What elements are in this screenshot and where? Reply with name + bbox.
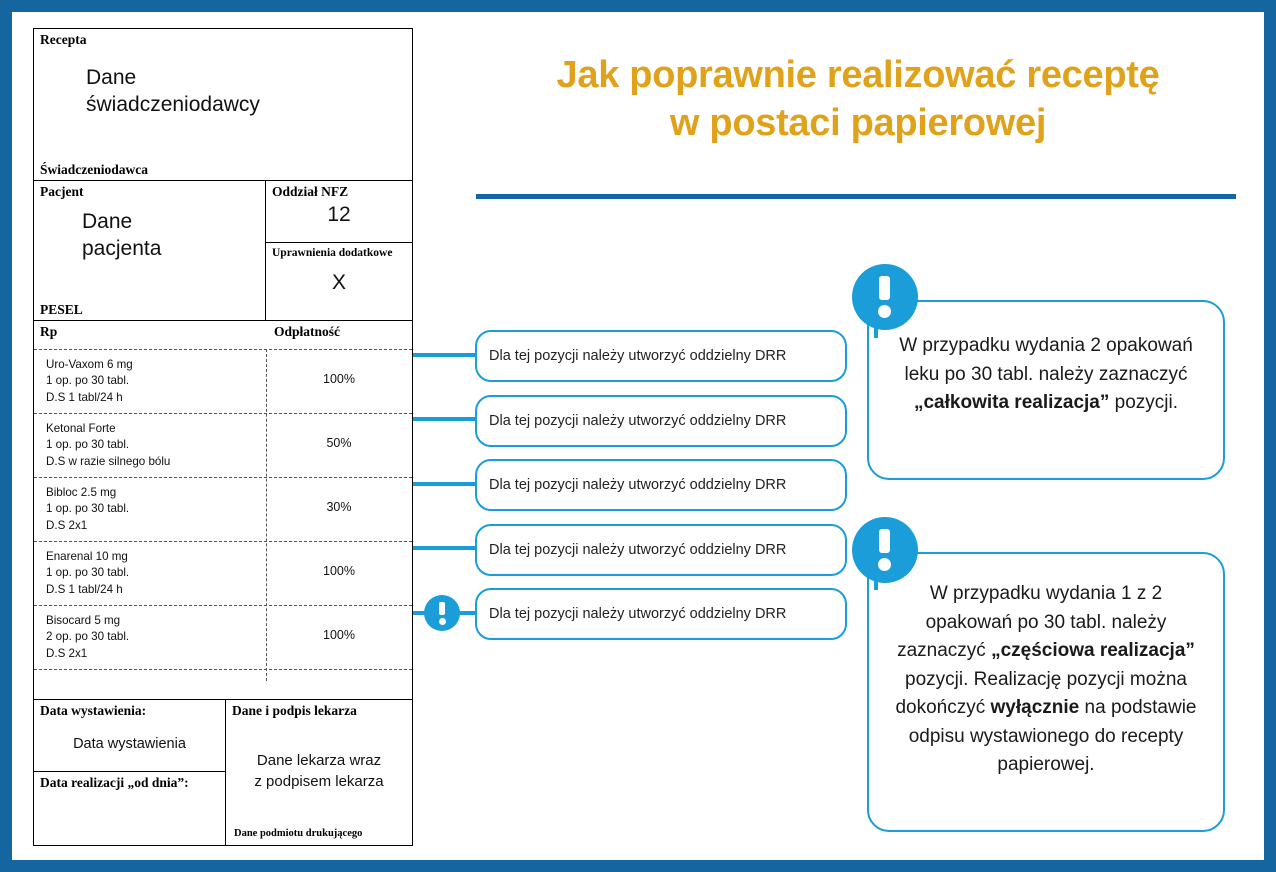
- provider-block: Recepta Dane świadczeniodawcy Świadczeni…: [34, 29, 412, 181]
- title-underline: [476, 194, 1236, 199]
- pesel-label: PESEL: [34, 299, 83, 318]
- nfz-cell: Oddział NFZ 12: [266, 181, 412, 243]
- drug-details: Ketonal Forte 1 op. po 30 tabl. D.S w ra…: [46, 421, 258, 470]
- page-title-line1: Jak poprawnie realizować receptę: [464, 52, 1252, 100]
- callout-box: Dla tej pozycji należy utworzyć oddzieln…: [475, 395, 847, 447]
- drug-payment: 100%: [266, 564, 412, 578]
- rp-header-label: Rp: [34, 321, 266, 340]
- table-row: Enarenal 10 mg 1 op. po 30 tabl. D.S 1 t…: [34, 541, 412, 605]
- exclamation-icon: [852, 517, 918, 583]
- drug-dosage: D.S 2x1: [46, 518, 258, 534]
- payment-header-label: Odpłatność: [266, 321, 412, 340]
- nfz-column: Oddział NFZ 12 Uprawnienia dodatkowe X: [266, 181, 412, 320]
- drug-dosage: D.S 1 tabl/24 h: [46, 390, 258, 406]
- drug-name: Bisocard 5 mg: [46, 613, 258, 629]
- table-row: Uro-Vaxom 6 mg 1 op. po 30 tabl. D.S 1 t…: [34, 349, 412, 413]
- form-footer: Data wystawienia: Data wystawienia Data …: [34, 699, 412, 845]
- callout-text: Dla tej pozycji należy utworzyć oddzieln…: [477, 348, 786, 364]
- callout-box: Dla tej pozycji należy utworzyć oddzieln…: [475, 459, 847, 511]
- provider-footer-label: Świadczeniodawca: [34, 159, 148, 178]
- provider-value: Dane świadczeniodawcy: [86, 65, 260, 119]
- patient-label: Pacjent: [34, 181, 265, 200]
- callout-text: Dla tej pozycji należy utworzyć oddzieln…: [477, 477, 786, 493]
- realization-date-cell: Data realizacji „od dnia”:: [34, 772, 225, 845]
- info-panel-full-realization: W przypadku wydania 2 opakowań leku po 3…: [867, 300, 1225, 480]
- patient-cell: Pacjent Dane pacjenta PESEL: [34, 181, 266, 320]
- drug-payment: 50%: [266, 436, 412, 450]
- drug-packaging: 1 op. po 30 tabl.: [46, 373, 258, 389]
- provider-value-line1: Dane: [86, 65, 260, 92]
- infographic-page: Recepta Dane świadczeniodawcy Świadczeni…: [12, 12, 1264, 860]
- issue-date-label: Data wystawienia:: [34, 700, 225, 719]
- provider-value-line2: świadczeniodawcy: [86, 92, 260, 119]
- page-title-line2: w postaci papierowej: [464, 100, 1252, 148]
- table-row: Ketonal Forte 1 op. po 30 tabl. D.S w ra…: [34, 413, 412, 477]
- nfz-value: 12: [266, 203, 412, 227]
- nfz-label: Oddział NFZ: [266, 181, 412, 200]
- patient-value: Dane pacjenta: [82, 209, 161, 263]
- issue-date-value: Data wystawienia: [34, 736, 225, 752]
- callout-box: Dla tej pozycji należy utworzyć oddzieln…: [475, 524, 847, 576]
- drug-dosage: D.S 2x1: [46, 646, 258, 662]
- extra-rights-value: X: [266, 271, 412, 295]
- callout-text: Dla tej pozycji należy utworzyć oddzieln…: [477, 413, 786, 429]
- drug-name: Enarenal 10 mg: [46, 549, 258, 565]
- info-text-bold2: wyłącznie: [991, 697, 1080, 718]
- drug-name: Ketonal Forte: [46, 421, 258, 437]
- printer-label: Dane podmiotu drukującego: [234, 828, 362, 839]
- realization-date-label: Data realizacji „od dnia”:: [34, 772, 225, 791]
- doctor-label: Dane i podpis lekarza: [226, 700, 412, 719]
- issue-date-cell: Data wystawienia: Data wystawienia: [34, 700, 225, 772]
- drug-payment: 30%: [266, 500, 412, 514]
- doctor-value-line1: Dane lekarza wraz: [226, 750, 412, 771]
- exclamation-icon: [852, 264, 918, 330]
- footer-left-column: Data wystawienia: Data wystawienia Data …: [34, 700, 226, 845]
- callout-text: Dla tej pozycji należy utworzyć oddzieln…: [477, 542, 786, 558]
- drug-packaging: 1 op. po 30 tabl.: [46, 501, 258, 517]
- drug-payment: 100%: [266, 628, 412, 642]
- drug-details: Uro-Vaxom 6 mg 1 op. po 30 tabl. D.S 1 t…: [46, 357, 258, 406]
- exclamation-icon: [424, 595, 460, 631]
- payment-header-cell: Odpłatność: [266, 321, 412, 349]
- doctor-value-line2: z podpisem lekarza: [226, 771, 412, 792]
- drug-packaging: 1 op. po 30 tabl.: [46, 565, 258, 581]
- drug-rows: Uro-Vaxom 6 mg 1 op. po 30 tabl. D.S 1 t…: [34, 349, 412, 713]
- doctor-value: Dane lekarza wraz z podpisem lekarza: [226, 750, 412, 793]
- drug-details: Bisocard 5 mg 2 op. po 30 tabl. D.S 2x1: [46, 613, 258, 662]
- table-header-row: Rp Odpłatność: [34, 321, 412, 349]
- info-text-part2: pozycji.: [1109, 392, 1178, 413]
- page-title: Jak poprawnie realizować receptę w posta…: [464, 52, 1252, 148]
- patient-value-line2: pacjenta: [82, 236, 161, 263]
- connector-line-1: [413, 353, 475, 357]
- info-text-bold: „całkowita realizacja”: [914, 392, 1109, 413]
- connector-line-2: [413, 417, 475, 421]
- info-panel-partial-realization: W przypadku wydania 1 z 2 opakowań po 30…: [867, 552, 1225, 832]
- patient-value-line1: Dane: [82, 209, 161, 236]
- info-panel-full-text: W przypadku wydania 2 opakowań leku po 3…: [869, 302, 1223, 418]
- info-text-bold: „częściowa realizacja”: [991, 640, 1195, 661]
- table-row: Bisocard 5 mg 2 op. po 30 tabl. D.S 2x1 …: [34, 605, 412, 669]
- form-label: Recepta: [34, 29, 412, 48]
- prescription-form: Recepta Dane świadczeniodawcy Świadczeni…: [33, 28, 413, 846]
- table-row: Bibloc 2.5 mg 1 op. po 30 tabl. D.S 2x1 …: [34, 477, 412, 541]
- drug-name: Uro-Vaxom 6 mg: [46, 357, 258, 373]
- drug-packaging: 2 op. po 30 tabl.: [46, 629, 258, 645]
- connector-line-4: [413, 546, 475, 550]
- info-panel-partial-text: W przypadku wydania 1 z 2 opakowań po 30…: [869, 554, 1223, 780]
- drug-dosage: D.S 1 tabl/24 h: [46, 582, 258, 598]
- patient-block: Pacjent Dane pacjenta PESEL Oddział NFZ …: [34, 181, 412, 321]
- connector-line-3: [413, 482, 475, 486]
- drug-details: Bibloc 2.5 mg 1 op. po 30 tabl. D.S 2x1: [46, 485, 258, 534]
- drug-details: Enarenal 10 mg 1 op. po 30 tabl. D.S 1 t…: [46, 549, 258, 598]
- callout-box: Dla tej pozycji należy utworzyć oddzieln…: [475, 588, 847, 640]
- drug-payment: 100%: [266, 372, 412, 386]
- callout-box: Dla tej pozycji należy utworzyć oddzieln…: [475, 330, 847, 382]
- drug-name: Bibloc 2.5 mg: [46, 485, 258, 501]
- rp-header-cell: Rp: [34, 321, 266, 349]
- extra-rights-label: Uprawnienia dodatkowe: [266, 243, 412, 260]
- extra-rights-cell: Uprawnienia dodatkowe X: [266, 243, 412, 320]
- callout-text: Dla tej pozycji należy utworzyć oddzieln…: [477, 606, 786, 622]
- doctor-cell: Dane i podpis lekarza Dane lekarza wraz …: [226, 700, 412, 845]
- drug-packaging: 1 op. po 30 tabl.: [46, 437, 258, 453]
- info-text-part1: W przypadku wydania 2 opakowań leku po 3…: [899, 335, 1193, 385]
- drug-dosage: D.S w razie silnego bólu: [46, 454, 258, 470]
